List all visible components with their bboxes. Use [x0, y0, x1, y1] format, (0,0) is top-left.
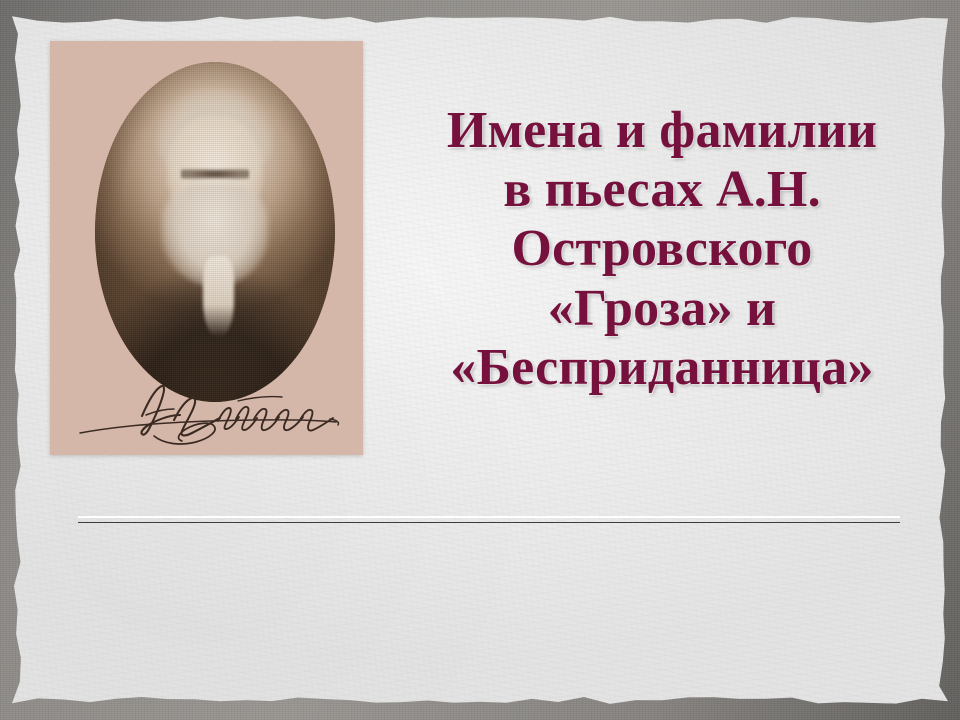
slide-canvas: Имена и фамилии в пьесах А.Н. Островског…: [0, 0, 960, 720]
slide-title: Имена и фамилии в пьесах А.Н. Островског…: [384, 101, 940, 397]
divider-line: [78, 522, 900, 523]
photo-vignette: [95, 62, 335, 402]
portrait-photo-oval: [95, 62, 335, 402]
portrait-frame: [50, 41, 363, 455]
divider: [78, 516, 900, 526]
signature-icon: [68, 375, 346, 447]
divider-highlight: [78, 516, 900, 518]
